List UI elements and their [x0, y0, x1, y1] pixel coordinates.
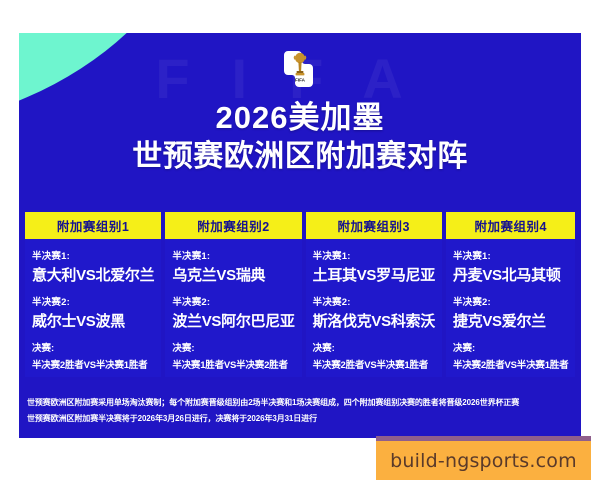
semifinal1-label: 半决赛1:	[172, 248, 294, 262]
final-label: 决赛:	[453, 340, 568, 354]
final-match: 半决赛2胜者VS半决赛1胜者	[32, 357, 154, 371]
group-body: 半决赛1: 意大利VS北爱尔兰 半决赛2: 威尔士VS波黑 决赛: 半决赛2胜者…	[25, 239, 161, 377]
semifinal2-label: 半决赛2:	[172, 294, 294, 308]
semifinal1-match: 土耳其VS罗马尼亚	[313, 264, 435, 285]
semifinal1-match: 丹麦VS北马其顿	[453, 264, 568, 285]
page-subtitle: 世预赛欧洲区附加赛对阵	[19, 140, 581, 175]
semifinal1-label: 半决赛1:	[32, 248, 154, 262]
group-title: 附加赛组别2	[165, 212, 301, 239]
semifinal2-label: 半决赛2:	[313, 294, 435, 308]
final-match: 半决赛1胜者VS半决赛2胜者	[172, 357, 294, 371]
semifinal1-match: 意大利VS北爱尔兰	[32, 264, 154, 285]
group-card: 附加赛组别1 半决赛1: 意大利VS北爱尔兰 半决赛2: 威尔士VS波黑 决赛:…	[25, 212, 161, 377]
page-title: 2026美加墨	[19, 100, 581, 136]
footer-notes: 世预赛欧洲区附加赛采用单场淘汰赛制；每个附加赛晋级组别由2场半决赛和1场决赛组成…	[27, 397, 573, 430]
fifa-world-cup-logo-icon: FIFA	[283, 47, 317, 89]
final-match: 半决赛2胜者VS半决赛1胜者	[313, 357, 435, 371]
group-title: 附加赛组别3	[306, 212, 442, 239]
semifinal2-match: 波兰VS阿尔巴尼亚	[172, 310, 294, 331]
footer-note-format: 世预赛欧洲区附加赛采用单场淘汰赛制；每个附加赛晋级组别由2场半决赛和1场决赛组成…	[27, 397, 573, 409]
semifinal2-match: 捷克VS爱尔兰	[453, 310, 568, 331]
group-body: 半决赛1: 乌克兰VS瑞典 半决赛2: 波兰VS阿尔巴尼亚 决赛: 半决赛1胜者…	[165, 239, 301, 377]
group-card: 附加赛组别2 半决赛1: 乌克兰VS瑞典 半决赛2: 波兰VS阿尔巴尼亚 决赛:…	[165, 212, 301, 377]
group-card: 附加赛组别3 半决赛1: 土耳其VS罗马尼亚 半决赛2: 斯洛伐克VS科索沃 决…	[306, 212, 442, 377]
semifinal2-match: 威尔士VS波黑	[32, 310, 154, 331]
group-body: 半决赛1: 丹麦VS北马其顿 半决赛2: 捷克VS爱尔兰 决赛: 半决赛2胜者V…	[446, 239, 575, 377]
footer-note-dates: 世预赛欧洲区附加赛半决赛将于2026年3月26日进行，决赛将于2026年3月31…	[27, 413, 573, 425]
group-title: 附加赛组别4	[446, 212, 575, 239]
semifinal1-match: 乌克兰VS瑞典	[172, 264, 294, 285]
site-watermark-text: build-ngsports.com	[390, 450, 577, 472]
final-label: 决赛:	[32, 340, 154, 354]
semifinal2-label: 半决赛2:	[32, 294, 154, 308]
site-watermark[interactable]: build-ngsports.com	[376, 441, 591, 480]
poster-header: FIFA 2026美加墨 世预赛欧洲区附加赛对阵	[19, 33, 581, 174]
semifinal2-label: 半决赛2:	[453, 294, 568, 308]
semifinal1-label: 半决赛1:	[313, 248, 435, 262]
semifinal2-match: 斯洛伐克VS科索沃	[313, 310, 435, 331]
poster-container: FIFA FIFA 2026美加墨 世预赛欧洲区附加赛对阵 附加赛组别1 半决赛…	[19, 33, 581, 438]
svg-text:FIFA: FIFA	[295, 77, 306, 82]
playoff-groups: 附加赛组别1 半决赛1: 意大利VS北爱尔兰 半决赛2: 威尔士VS波黑 决赛:…	[25, 212, 575, 377]
final-label: 决赛:	[313, 340, 435, 354]
group-card: 附加赛组别4 半决赛1: 丹麦VS北马其顿 半决赛2: 捷克VS爱尔兰 决赛: …	[446, 212, 575, 377]
final-match: 半决赛2胜者VS半决赛1胜者	[453, 357, 568, 371]
group-body: 半决赛1: 土耳其VS罗马尼亚 半决赛2: 斯洛伐克VS科索沃 决赛: 半决赛2…	[306, 239, 442, 377]
group-title: 附加赛组别1	[25, 212, 161, 239]
semifinal1-label: 半决赛1:	[453, 248, 568, 262]
final-label: 决赛:	[172, 340, 294, 354]
